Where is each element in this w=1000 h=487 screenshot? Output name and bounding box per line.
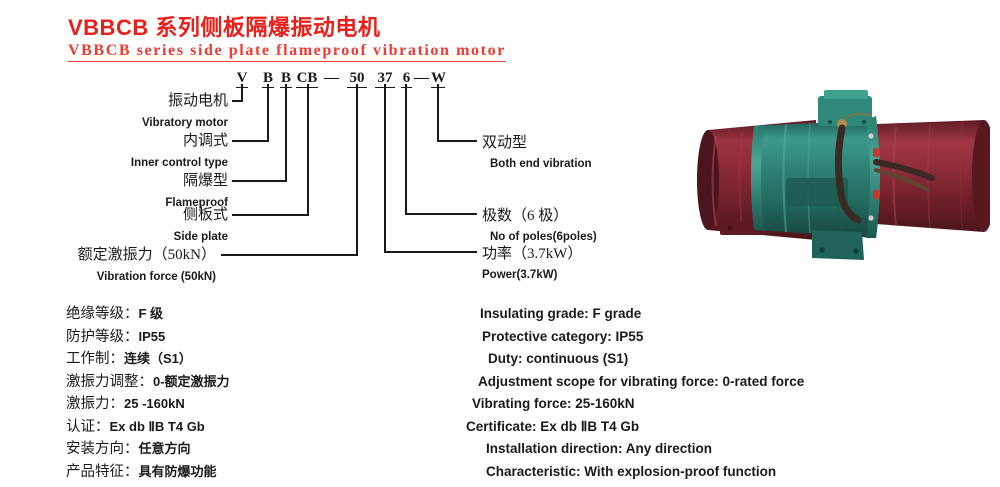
leader-v-horizontal <box>232 100 243 102</box>
spec-label-cn-2: 工作制： <box>66 351 124 367</box>
callout-left-cn-2: 隔爆型 <box>183 174 228 189</box>
spec-row-cn-0: 绝缘等级：F 级 <box>66 303 230 326</box>
page-subtitle-en: VBBCB series side plate flameproof vibra… <box>68 42 506 62</box>
leader-b2-vertical <box>285 84 287 182</box>
spec-row-cn-7: 产品特征：具有防爆功能 <box>66 461 230 484</box>
spec-label-cn-6: 安装方向： <box>66 441 139 457</box>
spec-label-cn-1: 防护等级： <box>66 329 139 345</box>
spec-row-cn-1: 防护等级：IP55 <box>66 326 230 349</box>
leader-b1-vertical <box>267 84 269 142</box>
model-code-dash-1: — <box>324 70 339 87</box>
leader-b2-horizontal <box>232 180 287 182</box>
spec-label-cn-5: 认证： <box>66 419 110 435</box>
specification-list-cn: 绝缘等级：F 级防护等级：IP55工作制：连续（S1）激振力调整：0-额定激振力… <box>66 303 230 483</box>
callout-left-en-3: Side plate <box>174 232 228 244</box>
model-code-dash-2: — <box>414 70 429 87</box>
callout-left-cn-0: 振动电机 <box>168 94 228 109</box>
callout-left-en-0: Vibratory motor <box>142 118 228 130</box>
leader-50-vertical <box>356 84 358 256</box>
spec-value-cn-1: IP55 <box>139 329 166 344</box>
spec-value-cn-2: 连续（S1） <box>124 351 192 366</box>
callout-right-en-0: Both end vibration <box>490 159 592 171</box>
callout-left-cn-1: 内调式 <box>183 134 228 149</box>
spec-value-cn-5: Ex db ⅡB T4 Gb <box>110 419 205 434</box>
spec-row-cn-6: 安装方向：任意方向 <box>66 438 230 461</box>
leader-6-vertical <box>405 84 407 215</box>
spec-row-en-2: Duty: continuous (S1) <box>466 348 804 371</box>
spec-row-en-6: Installation direction: Any direction <box>466 438 804 461</box>
spec-row-cn-5: 认证：Ex db ⅡB T4 Gb <box>66 416 230 439</box>
spec-label-cn-3: 激振力调整： <box>66 374 153 390</box>
callout-right-cn-2: 功率（3.7kW） <box>482 247 582 262</box>
leader-b1-horizontal <box>232 140 269 142</box>
spec-value-cn-4: 25 -160kN <box>124 396 185 411</box>
callout-left-en-1: Inner control type <box>131 158 228 170</box>
spec-label-cn-0: 绝缘等级： <box>66 306 139 322</box>
specification-list-en: Insulating grade: F gradeProtective cate… <box>466 303 804 483</box>
motor-illustration <box>690 78 990 283</box>
product-photo <box>690 78 990 283</box>
leader-37-horizontal <box>384 251 477 253</box>
leader-50-horizontal <box>221 254 358 256</box>
spec-row-en-7: Characteristic: With explosion-proof fun… <box>466 461 804 484</box>
spec-row-en-4: Vibrating force: 25-160kN <box>466 393 804 416</box>
spec-row-cn-4: 激振力：25 -160kN <box>66 393 230 416</box>
spec-row-cn-2: 工作制：连续（S1） <box>66 348 230 371</box>
leader-6-horizontal <box>405 213 477 215</box>
spec-row-en-1: Protective category: IP55 <box>466 326 804 349</box>
spec-row-en-0: Insulating grade: F grade <box>466 303 804 326</box>
callout-right-cn-0: 双动型 <box>482 136 527 151</box>
spec-row-en-3: Adjustment scope for vibrating force: 0-… <box>466 371 804 394</box>
leader-cb-vertical <box>307 84 309 216</box>
callout-left-cn-3: 侧板式 <box>183 208 228 223</box>
callout-left-en-4: Vibration force (50kN) <box>97 272 216 284</box>
spec-value-cn-6: 任意方向 <box>139 441 191 456</box>
spec-row-en-5: Certificate: Ex db ⅡB T4 Gb <box>466 416 804 439</box>
spec-value-cn-7: 具有防爆功能 <box>139 464 217 479</box>
leader-cb-horizontal <box>232 214 309 216</box>
callout-right-en-2: Power(3.7kW) <box>482 270 557 282</box>
callout-right-en-1: No of poles(6poles) <box>490 232 597 244</box>
page-title-cn: VBBCB 系列侧板隔爆振动电机 <box>68 10 380 42</box>
leader-w-horizontal <box>437 140 477 142</box>
spec-value-cn-0: F 级 <box>139 306 164 321</box>
spec-value-cn-3: 0-额定激振力 <box>153 374 230 389</box>
callout-right-cn-1: 极数（6 极） <box>482 209 568 224</box>
spec-label-cn-7: 产品特征： <box>66 464 139 480</box>
spec-label-cn-4: 激振力： <box>66 396 124 412</box>
leader-37-vertical <box>384 84 386 253</box>
product-spec-sheet: VBBCB 系列侧板隔爆振动电机 VBBCB series side plate… <box>0 0 1000 487</box>
leader-w-vertical <box>437 84 439 142</box>
callout-left-cn-4: 额定激振力（50kN） <box>78 248 216 263</box>
spec-row-cn-3: 激振力调整：0-额定激振力 <box>66 371 230 394</box>
